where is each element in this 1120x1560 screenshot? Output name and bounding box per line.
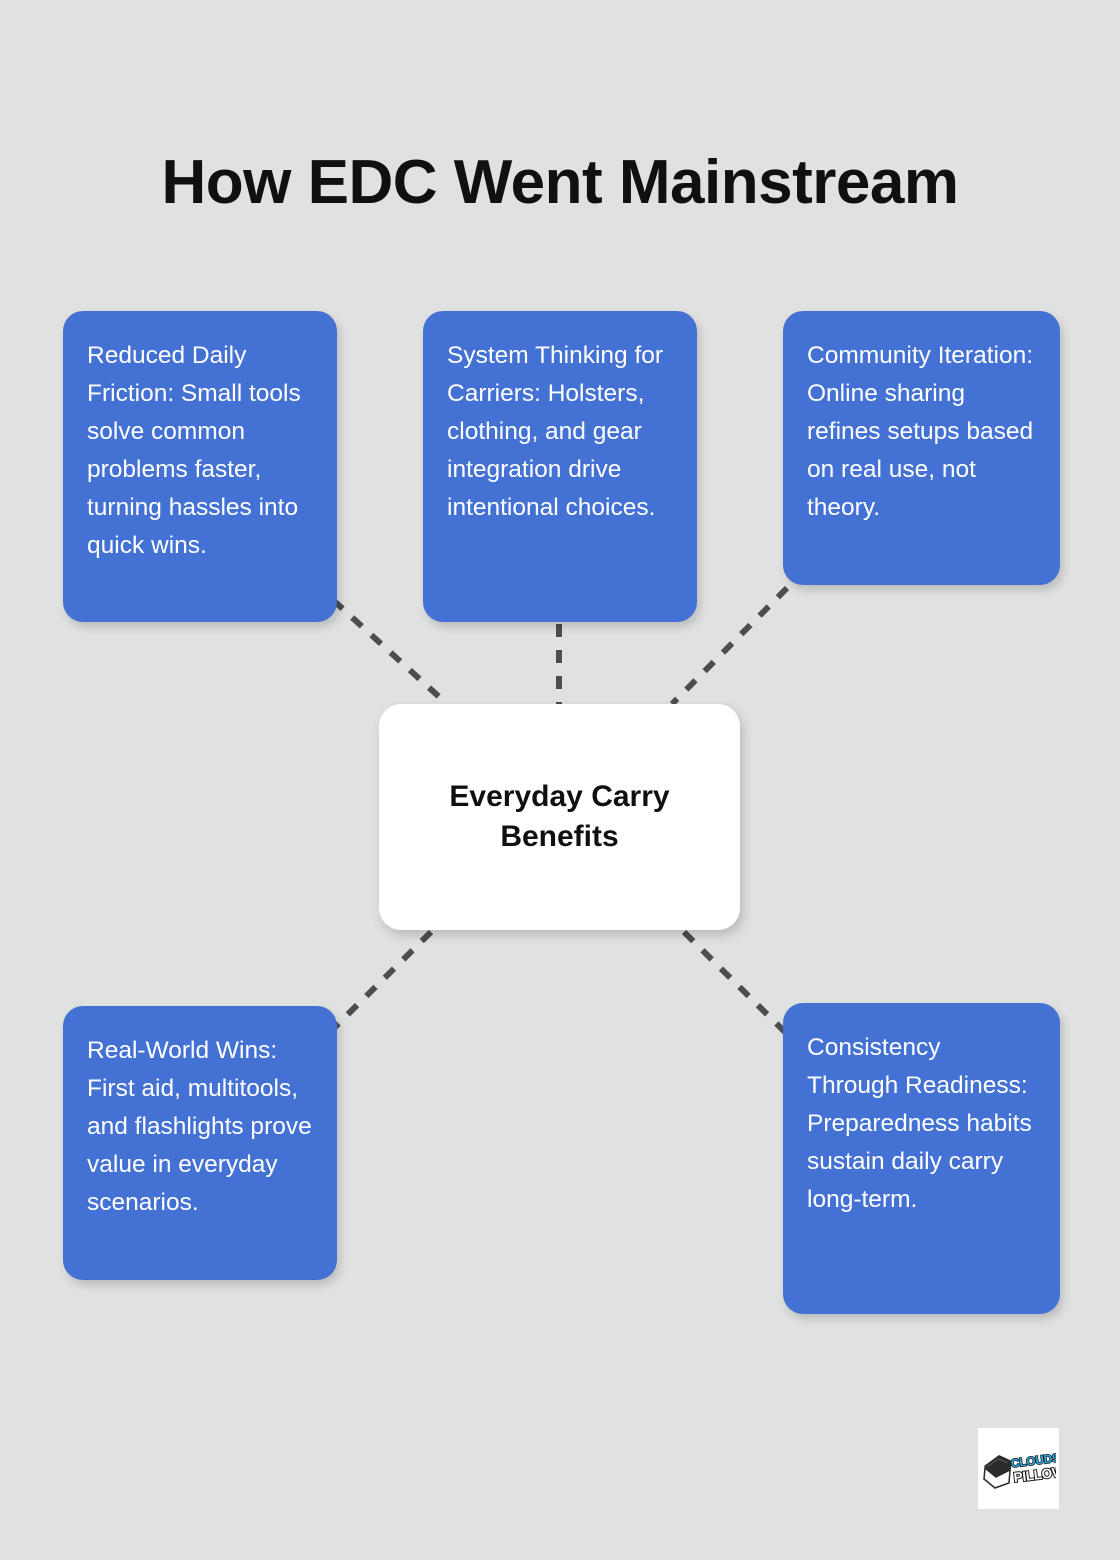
connector-line-bottom-right [684, 932, 788, 1035]
benefit-node-real-world-wins[interactable]: Real-World Wins: First aid, multitools, … [63, 1006, 337, 1280]
benefit-node-text: Consistency Through Readiness: Preparedn… [807, 1029, 1036, 1219]
center-node-everyday-carry-benefits[interactable]: Everyday Carry Benefits [379, 704, 740, 930]
page-title: How EDC Went Mainstream [0, 146, 1120, 220]
benefit-node-text: Reduced Daily Friction: Small tools solv… [87, 337, 313, 565]
pillow-graphic [984, 1455, 1012, 1488]
benefit-node-text: System Thinking for Carriers: Holsters, … [447, 337, 673, 527]
brand-logo: CLOUDSTER CLOUDSTER PILLOW PILLOW [978, 1428, 1059, 1509]
benefit-node-text: Real-World Wins: First aid, multitools, … [87, 1032, 313, 1222]
benefit-node-system-thinking-for-carriers[interactable]: System Thinking for Carriers: Holsters, … [423, 311, 697, 622]
cloudster-pillow-logo-icon: CLOUDSTER CLOUDSTER PILLOW PILLOW [982, 1449, 1056, 1489]
benefit-node-community-iteration[interactable]: Community Iteration: Online sharing refi… [783, 311, 1060, 585]
benefit-node-reduced-daily-friction[interactable]: Reduced Daily Friction: Small tools solv… [63, 311, 337, 622]
center-node-label: Everyday Carry Benefits [417, 777, 702, 857]
connector-line-bottom-left [332, 932, 431, 1030]
benefit-node-text: Community Iteration: Online sharing refi… [807, 337, 1036, 527]
infographic-canvas: How EDC Went Mainstream Reduced Daily Fr… [0, 0, 1120, 1560]
benefit-node-consistency-through-readiness[interactable]: Consistency Through Readiness: Preparedn… [783, 1003, 1060, 1314]
